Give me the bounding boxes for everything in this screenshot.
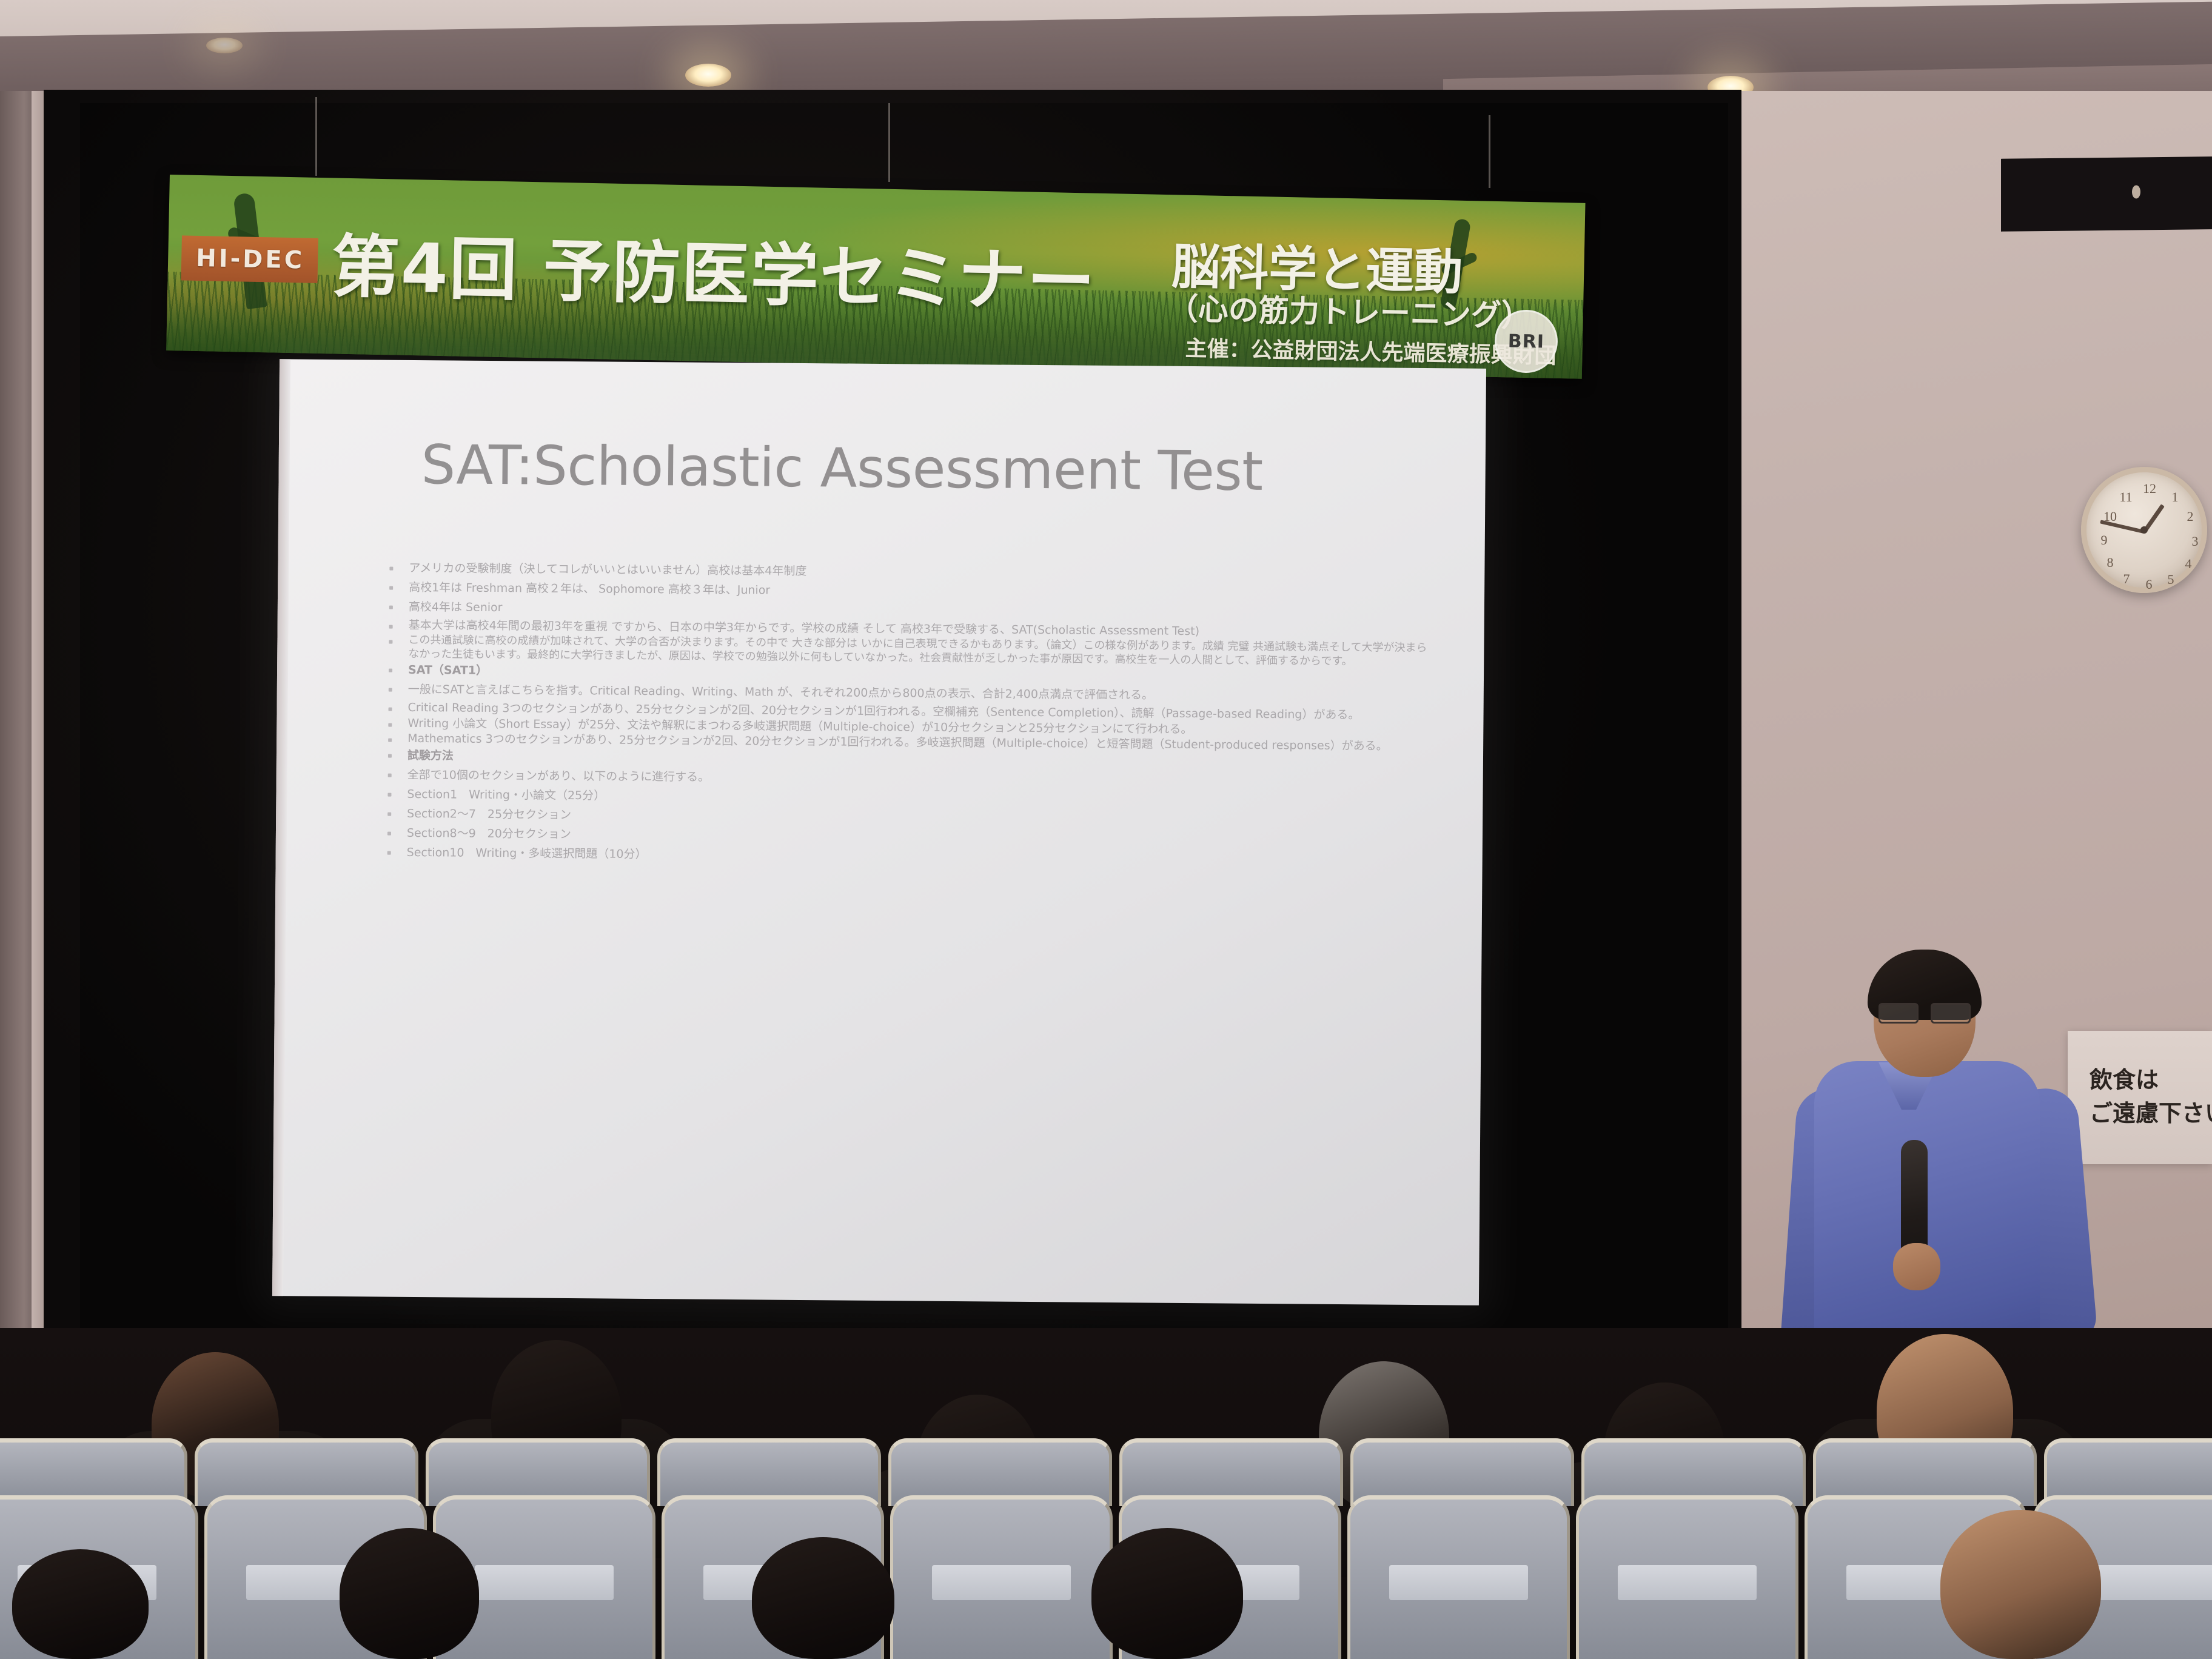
- audience-area: [0, 1328, 2212, 1659]
- seminar-banner: HI-DEC 第4回 予防医学セミナー 脳科学と運動 （心の筋力トレーニング） …: [166, 175, 1585, 379]
- banner-subtitle-secondary: （心の筋力トレーニング）: [1167, 284, 1532, 335]
- seminar-hall-photo: 12 1 2 3 4 5 6 7 8 9 10 11 飲食は ご遠慮下さい HI…: [0, 0, 2212, 1659]
- banner-hanging-wire: [888, 103, 890, 182]
- auditorium-seat: [1347, 1495, 1570, 1659]
- notice-line-1: 飲食は: [2090, 1064, 2212, 1097]
- audience-member-head: [752, 1537, 894, 1659]
- slide-title: SAT:Scholastic Assessment Test: [421, 433, 1263, 503]
- presenter-hand-holding-mic: [1893, 1243, 1940, 1290]
- clock-numeral: 11: [2118, 491, 2134, 504]
- clock-numeral: 7: [2119, 572, 2134, 586]
- auditorium-seat: [1576, 1495, 1798, 1659]
- banner-hanging-wire: [1489, 115, 1490, 188]
- clock-numeral: 9: [2096, 534, 2112, 547]
- clock-numeral: 1: [2167, 491, 2183, 504]
- clock-numeral: 2: [2182, 510, 2198, 523]
- audience-member-head: [12, 1549, 149, 1659]
- clock-numeral: 5: [2163, 573, 2179, 586]
- audience-member-head: [340, 1528, 479, 1659]
- banner-hanging-wire: [315, 97, 317, 176]
- notice-line-2: ご遠慮下さい: [2090, 1097, 2212, 1130]
- downlight-icon: [206, 38, 243, 53]
- clock-numeral: 8: [2102, 556, 2118, 569]
- clock-minute-hand: [2100, 520, 2144, 533]
- auditorium-seat: [890, 1495, 1113, 1659]
- clock-numeral: 12: [2142, 482, 2157, 495]
- wall-clock: 12 1 2 3 4 5 6 7 8 9 10 11: [2081, 467, 2207, 593]
- clock-numeral: 3: [2187, 535, 2203, 548]
- audience-member-head: [1091, 1528, 1243, 1659]
- clock-numeral: 6: [2141, 578, 2157, 591]
- ceiling-speaker-panel: [2001, 156, 2212, 232]
- slide-bullet-list: アメリカの受験制度（決してコレがいいとはいいません）高校は基本4年制度 高校1年…: [379, 560, 1436, 872]
- projection-screen: SAT:Scholastic Assessment Test アメリカの受験制度…: [272, 359, 1486, 1305]
- clock-numeral: 4: [2180, 557, 2196, 571]
- banner-main-title: 第4回 予防医学セミナー: [331, 212, 1098, 325]
- downlight-icon: [685, 64, 731, 87]
- glasses-icon: [1879, 1003, 1971, 1021]
- audience-member-head: [1940, 1510, 2101, 1659]
- hi-dec-badge: HI-DEC: [181, 235, 318, 283]
- clock-center-pin: [2140, 526, 2148, 534]
